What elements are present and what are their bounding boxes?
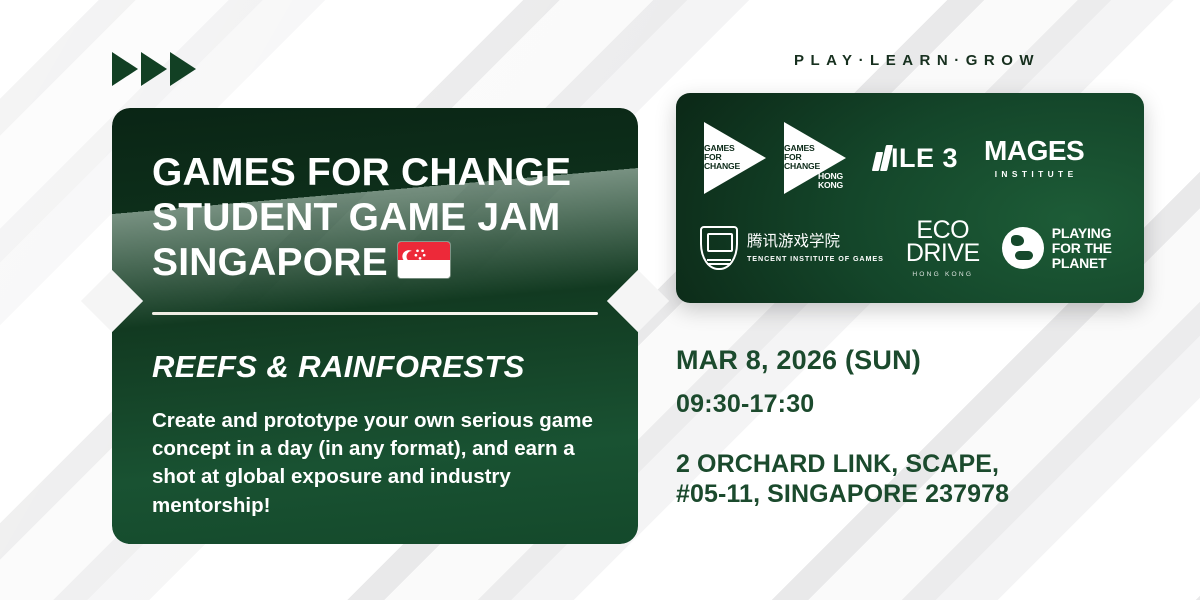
pftp-line-3: PLANET <box>1052 255 1107 271</box>
event-time: 09:30-17:30 <box>676 390 1152 419</box>
partner-logo-card: GAMES FOR CHANGE GAMES FOR CHANGE HONG K… <box>676 93 1144 303</box>
arrow-icon <box>141 52 167 86</box>
g4c-logo-text: GAMES FOR CHANGE <box>704 144 740 171</box>
address-line-2: #05-11, SINGAPORE 237978 <box>676 479 1152 509</box>
pftp-wordmark: PLAYING FOR THE PLANET <box>1052 226 1112 270</box>
hero-subtitle: REEFS & RAINFORESTS <box>152 349 598 385</box>
hero-card: GAMES FOR CHANGE STUDENT GAME JAM SINGAP… <box>112 108 638 544</box>
ecodrive-region: HONG KONG <box>906 271 980 278</box>
g4chk-region-text: HONG KONG <box>818 172 843 190</box>
hero-description: Create and prototype your own serious ga… <box>152 407 598 520</box>
title-line-2: STUDENT GAME JAM <box>152 195 598 240</box>
event-details: MAR 8, 2026 (SUN) 09:30-17:30 2 ORCHARD … <box>676 345 1152 509</box>
mages-institute-logo: MAGES INSTITUTE <box>984 137 1084 179</box>
tencent-english-name: TENCENT INSTITUTE OF GAMES <box>747 254 884 263</box>
singapore-flag-icon <box>398 242 450 278</box>
arrow-icon <box>112 52 138 86</box>
logo-row-secondary: 腾讯游戏学院 TENCENT INSTITUTE OF GAMES ECO DR… <box>694 219 1126 278</box>
tencent-institute-logo: 腾讯游戏学院 TENCENT INSTITUTE OF GAMES <box>700 226 884 270</box>
event-date: MAR 8, 2026 (SUN) <box>676 345 1152 376</box>
right-column: PLAY·LEARN·GROW GAMES FOR CHANGE GAMES F… <box>676 52 1152 509</box>
page-title: GAMES FOR CHANGE STUDENT GAME JAM SINGAP… <box>152 150 598 286</box>
pftp-line-2: FOR THE <box>1052 240 1112 256</box>
games-for-change-logo: GAMES FOR CHANGE <box>698 118 774 198</box>
tencent-shield-icon <box>700 226 738 270</box>
nile3-logo: ILE 3 <box>874 143 958 174</box>
mages-wordmark: MAGES <box>984 137 1084 165</box>
title-line-1: GAMES FOR CHANGE <box>152 150 598 195</box>
logo-row-primary: GAMES FOR CHANGE GAMES FOR CHANGE HONG K… <box>694 118 1126 198</box>
tagline: PLAY·LEARN·GROW <box>676 52 1152 69</box>
flag-crescent-stars-icon <box>398 242 450 278</box>
g4c-line-3: CHANGE <box>704 161 740 171</box>
event-address: 2 ORCHARD LINK, SCAPE, #05-11, SINGAPORE… <box>676 449 1152 509</box>
event-banner: GAMES FOR CHANGE STUDENT GAME JAM SINGAP… <box>0 0 1200 600</box>
ecodrive-logo: ECO DRIVE HONG KONG <box>906 219 980 278</box>
g4chk-sub-2: KONG <box>818 180 843 190</box>
section-divider <box>152 312 598 315</box>
g4chk-logo-text: GAMES FOR CHANGE <box>784 144 820 171</box>
globe-gamepad-icon <box>1002 227 1044 269</box>
title-line-3: SINGAPORE <box>152 240 598 285</box>
games-for-change-hongkong-logo: GAMES FOR CHANGE HONG KONG <box>778 118 854 198</box>
pftp-line-1: PLAYING <box>1052 225 1112 241</box>
arrow-icon <box>170 52 196 86</box>
title-line-3-text: SINGAPORE <box>152 241 388 284</box>
nile3-logo-text: ILE 3 <box>891 143 958 174</box>
triple-arrow-icon <box>112 52 196 86</box>
tencent-chinese-name: 腾讯游戏学院 <box>747 233 840 250</box>
ecodrive-line-2: DRIVE <box>906 242 980 266</box>
playing-for-the-planet-logo: PLAYING FOR THE PLANET <box>1002 226 1112 270</box>
nile3-mark-icon <box>874 145 890 171</box>
g4chk-line-3: CHANGE <box>784 161 820 171</box>
mages-subtext: INSTITUTE <box>984 169 1084 179</box>
address-line-1: 2 ORCHARD LINK, SCAPE, <box>676 449 1152 479</box>
